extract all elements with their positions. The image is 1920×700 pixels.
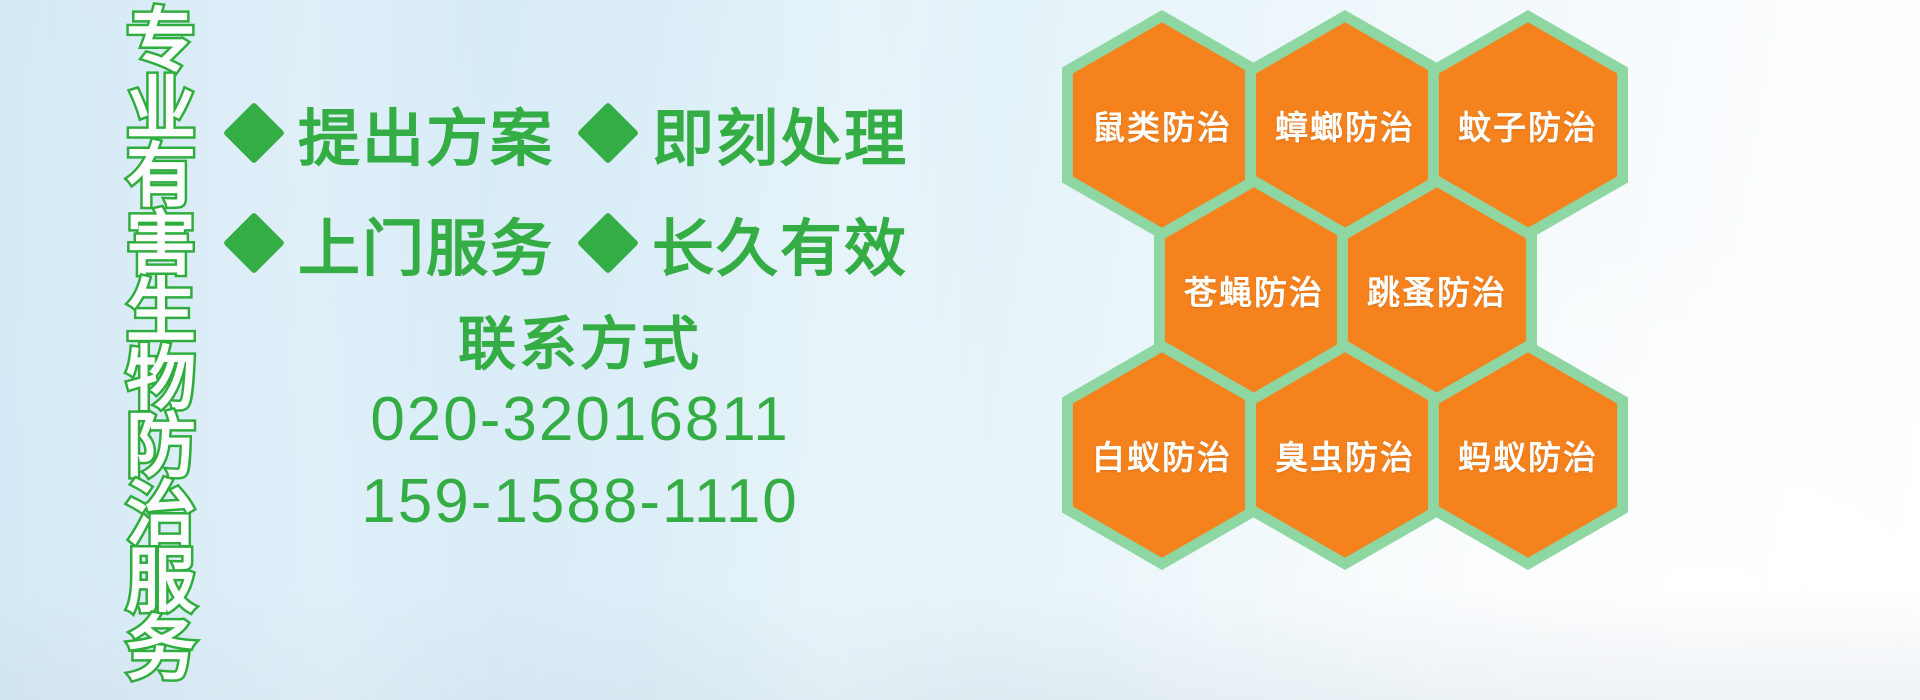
vertical-title-char: 害 [126, 211, 196, 279]
feature-item: 上门服务 [232, 198, 554, 288]
feature-label: 即刻处理 [652, 88, 908, 178]
vertical-title-char: 物 [126, 346, 196, 414]
hex-service-cell[interactable]: 蚂蚁防治 [1428, 340, 1628, 570]
vertical-title-char: 业 [126, 76, 196, 144]
diamond-bullet-icon [223, 212, 285, 274]
feature-item: 长久有效 [586, 198, 908, 288]
feature-row: 上门服务 长久有效 [232, 188, 908, 298]
contact-block: 联系方式 020-32016811 159-1588-1110 [300, 312, 860, 542]
hex-service-cell[interactable]: 臭虫防治 [1245, 340, 1445, 570]
hex-service-cell[interactable]: 白蚁防治 [1062, 340, 1262, 570]
feature-item: 提出方案 [232, 88, 554, 178]
phone-number-landline[interactable]: 020-32016811 [300, 379, 860, 461]
feature-label: 提出方案 [298, 88, 554, 178]
hex-service-label: 蚂蚁防治 [1428, 340, 1628, 570]
promo-banner: 专业有害生物防治服务 提出方案 即刻处理 上门服务 长久有效 联系方式 [0, 0, 1920, 700]
feature-item: 即刻处理 [586, 88, 908, 178]
feature-label: 长久有效 [652, 198, 908, 288]
vertical-title-char: 治 [126, 481, 196, 549]
vertical-title-char: 生 [126, 278, 196, 346]
vertical-title-char: 服 [126, 548, 196, 616]
vertical-title-char: 务 [126, 616, 196, 684]
vertical-title-char: 防 [126, 413, 196, 481]
feature-list: 提出方案 即刻处理 上门服务 长久有效 [232, 78, 908, 298]
vertical-title-char: 有 [126, 143, 196, 211]
feature-row: 提出方案 即刻处理 [232, 78, 908, 188]
hex-service-label: 白蚁防治 [1062, 340, 1262, 570]
hex-service-label: 臭虫防治 [1245, 340, 1445, 570]
vertical-title: 专业有害生物防治服务 [108, 8, 214, 568]
contact-title: 联系方式 [300, 312, 860, 379]
diamond-bullet-icon [577, 212, 639, 274]
vertical-title-char: 专 [126, 8, 196, 76]
diamond-bullet-icon [577, 102, 639, 164]
diamond-bullet-icon [223, 102, 285, 164]
feature-label: 上门服务 [298, 198, 554, 288]
phone-number-mobile[interactable]: 159-1588-1110 [300, 461, 860, 543]
